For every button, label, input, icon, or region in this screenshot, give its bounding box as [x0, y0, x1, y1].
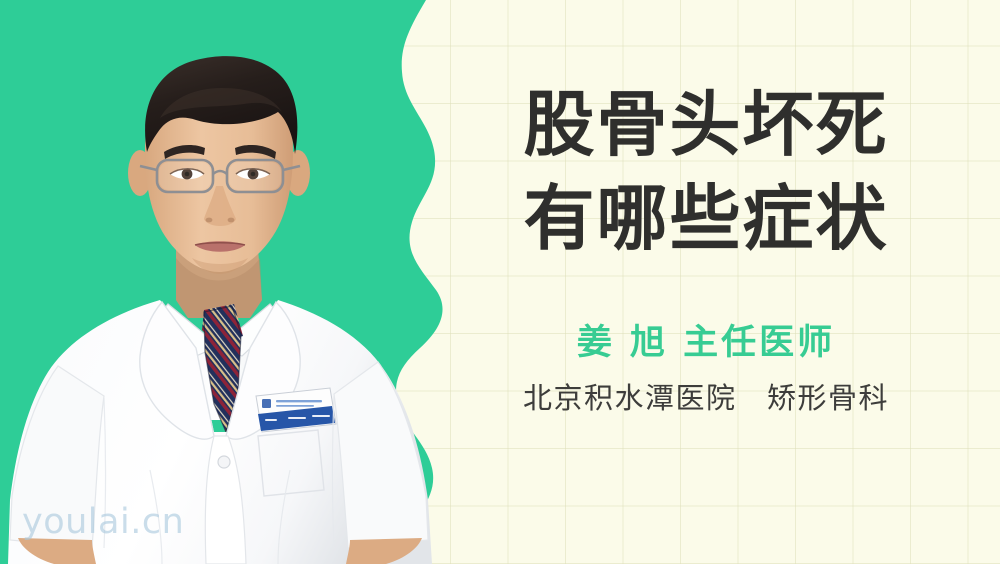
title-line-1: 股骨头坏死: [440, 78, 972, 172]
hospital-id-badge: [256, 388, 336, 432]
doctor-name-and-rank: 姜 旭 主任医师: [440, 314, 972, 365]
title-line-2: 有哪些症状: [440, 172, 972, 266]
coat-button: [218, 456, 230, 468]
watermark-youlai: youlai.cn: [22, 502, 184, 542]
video-thumbnail: youlai.cn 股骨头坏死 有哪些症状 姜 旭 主任医师 北京积水潭医院 矫…: [0, 0, 1000, 564]
page-title: 股骨头坏死 有哪些症状: [440, 78, 972, 265]
doctor-portrait: [0, 0, 440, 564]
doctor-affiliation: 北京积水潭医院 矫形骨科: [440, 375, 972, 417]
sleeve-right: [334, 362, 428, 548]
text-content-block: 股骨头坏死 有哪些症状 姜 旭 主任医师 北京积水潭医院 矫形骨科: [440, 0, 1000, 564]
